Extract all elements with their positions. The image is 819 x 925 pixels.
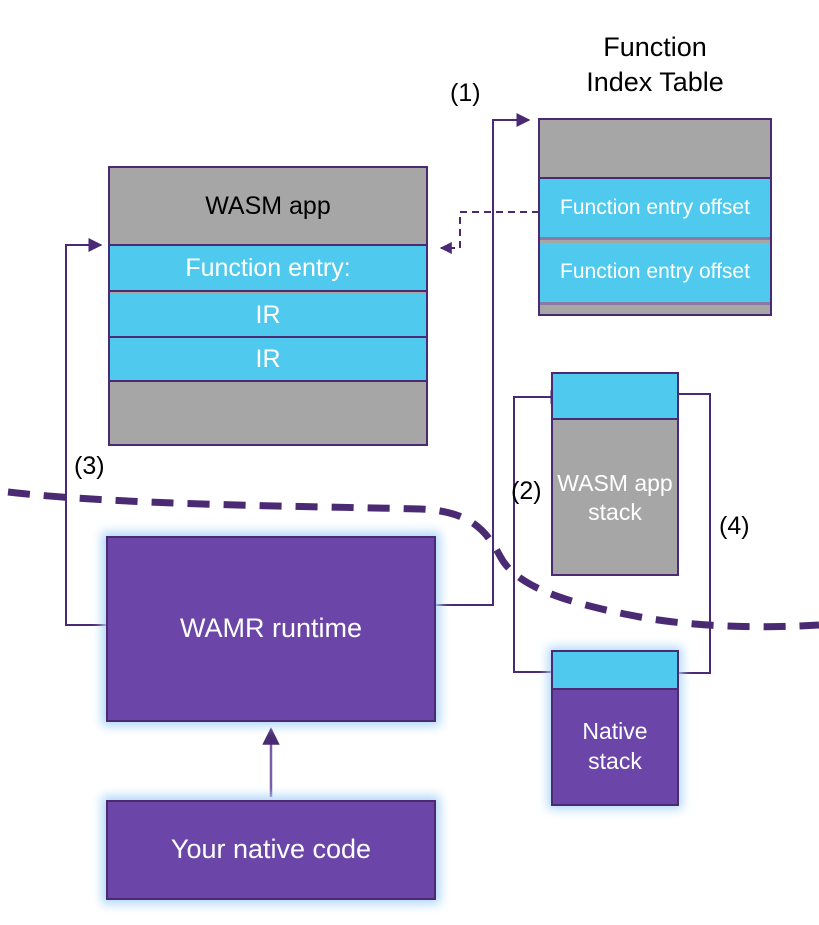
wasm-app-title: WASM app [110,168,426,244]
step-label-3: (3) [74,452,105,481]
wamr-runtime-label: WAMR runtime [180,614,362,644]
wasm-app-stack-box[interactable]: WASM app stack [551,372,679,576]
diagram-canvas: WASM app Function entry: IR IR Function … [0,0,819,925]
native-stack-label: Native stack [553,690,677,804]
function-index-table-title-line-2: Index Table [530,65,780,100]
native-stack-frame-band [553,652,677,690]
your-native-code-label: Your native code [171,835,371,865]
wasm-app-box[interactable]: WASM app Function entry: IR IR [108,166,428,446]
step-label-1: (1) [450,79,481,108]
wasm-function-entry-band: Function entry: [110,244,426,292]
function-index-table-entry-1: Function entry offset [540,177,770,240]
wasm-ir-band-2: IR [110,338,426,382]
connector-step-3 [66,245,108,625]
function-index-table-entry-2: Function entry offset [540,243,770,305]
function-index-table-title: Function Index Table [530,30,780,99]
native-stack-box[interactable]: Native stack [551,650,679,806]
your-native-code-box[interactable]: Your native code [106,800,436,900]
wamr-runtime-box[interactable]: WAMR runtime [106,536,436,722]
step-label-4: (4) [719,512,750,541]
step-label-2: (2) [511,477,542,506]
wasm-app-stack-label: WASM app stack [553,420,677,576]
function-index-table-title-line-1: Function [530,30,780,65]
function-index-table-box[interactable]: Function entry offset Function entry off… [538,118,772,316]
wasm-app-stack-frame-band [553,374,677,420]
wasm-ir-band-1: IR [110,294,426,338]
